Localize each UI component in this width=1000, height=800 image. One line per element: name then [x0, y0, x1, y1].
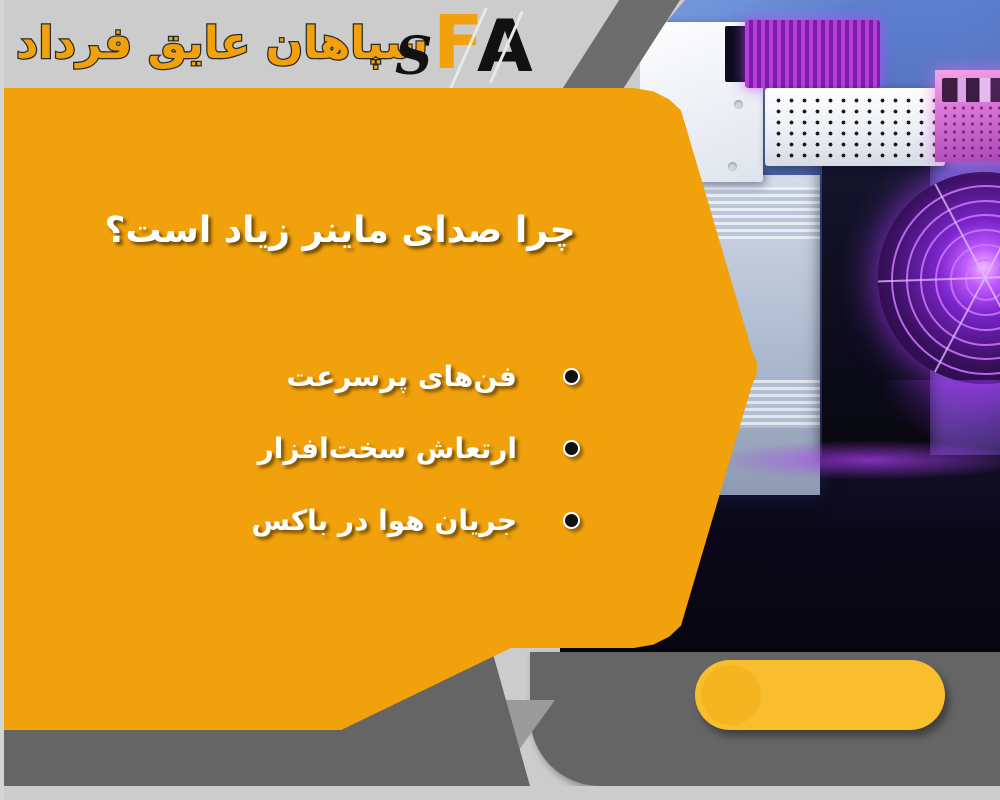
brand-name: سپاهان عایق فرداد [8, 8, 428, 78]
content-area: چرا صدای ماینر زیاد است؟ فن‌های پرسرعت ا… [0, 88, 700, 648]
list-item: ارتعاش سخت‌افزار [150, 412, 580, 484]
left-edge-strip [0, 0, 4, 800]
floor-glow [710, 440, 1000, 480]
bullet-dot-icon [563, 512, 580, 529]
list-item-label: جریان هوا در باکس [251, 504, 517, 537]
bullet-dot-icon [563, 368, 580, 385]
page-title: چرا صدای ماینر زیاد است؟ [80, 208, 600, 253]
list-item: فن‌های پرسرعت [150, 340, 580, 412]
cta-pill-button[interactable] [695, 660, 945, 730]
sfa-logo: S F A [395, 4, 545, 84]
miner-perforated-plate [765, 88, 945, 166]
pill-knob-icon [701, 665, 761, 725]
footer-baseline [0, 786, 1000, 800]
logo-letter-s: S [395, 26, 433, 87]
poster-canvas: سپاهان عایق فرداد S F A چرا صدای ماینر ز… [0, 0, 1000, 800]
reasons-list: فن‌های پرسرعت ارتعاش سخت‌افزار جریان هوا… [150, 340, 580, 556]
miner-heatsink-purple [745, 20, 880, 88]
bullet-dot-icon [563, 440, 580, 457]
miner-chip-row [942, 78, 1000, 102]
list-item-label: فن‌های پرسرعت [286, 360, 517, 393]
list-item-label: ارتعاش سخت‌افزار [258, 432, 517, 465]
list-item: جریان هوا در باکس [150, 484, 580, 556]
